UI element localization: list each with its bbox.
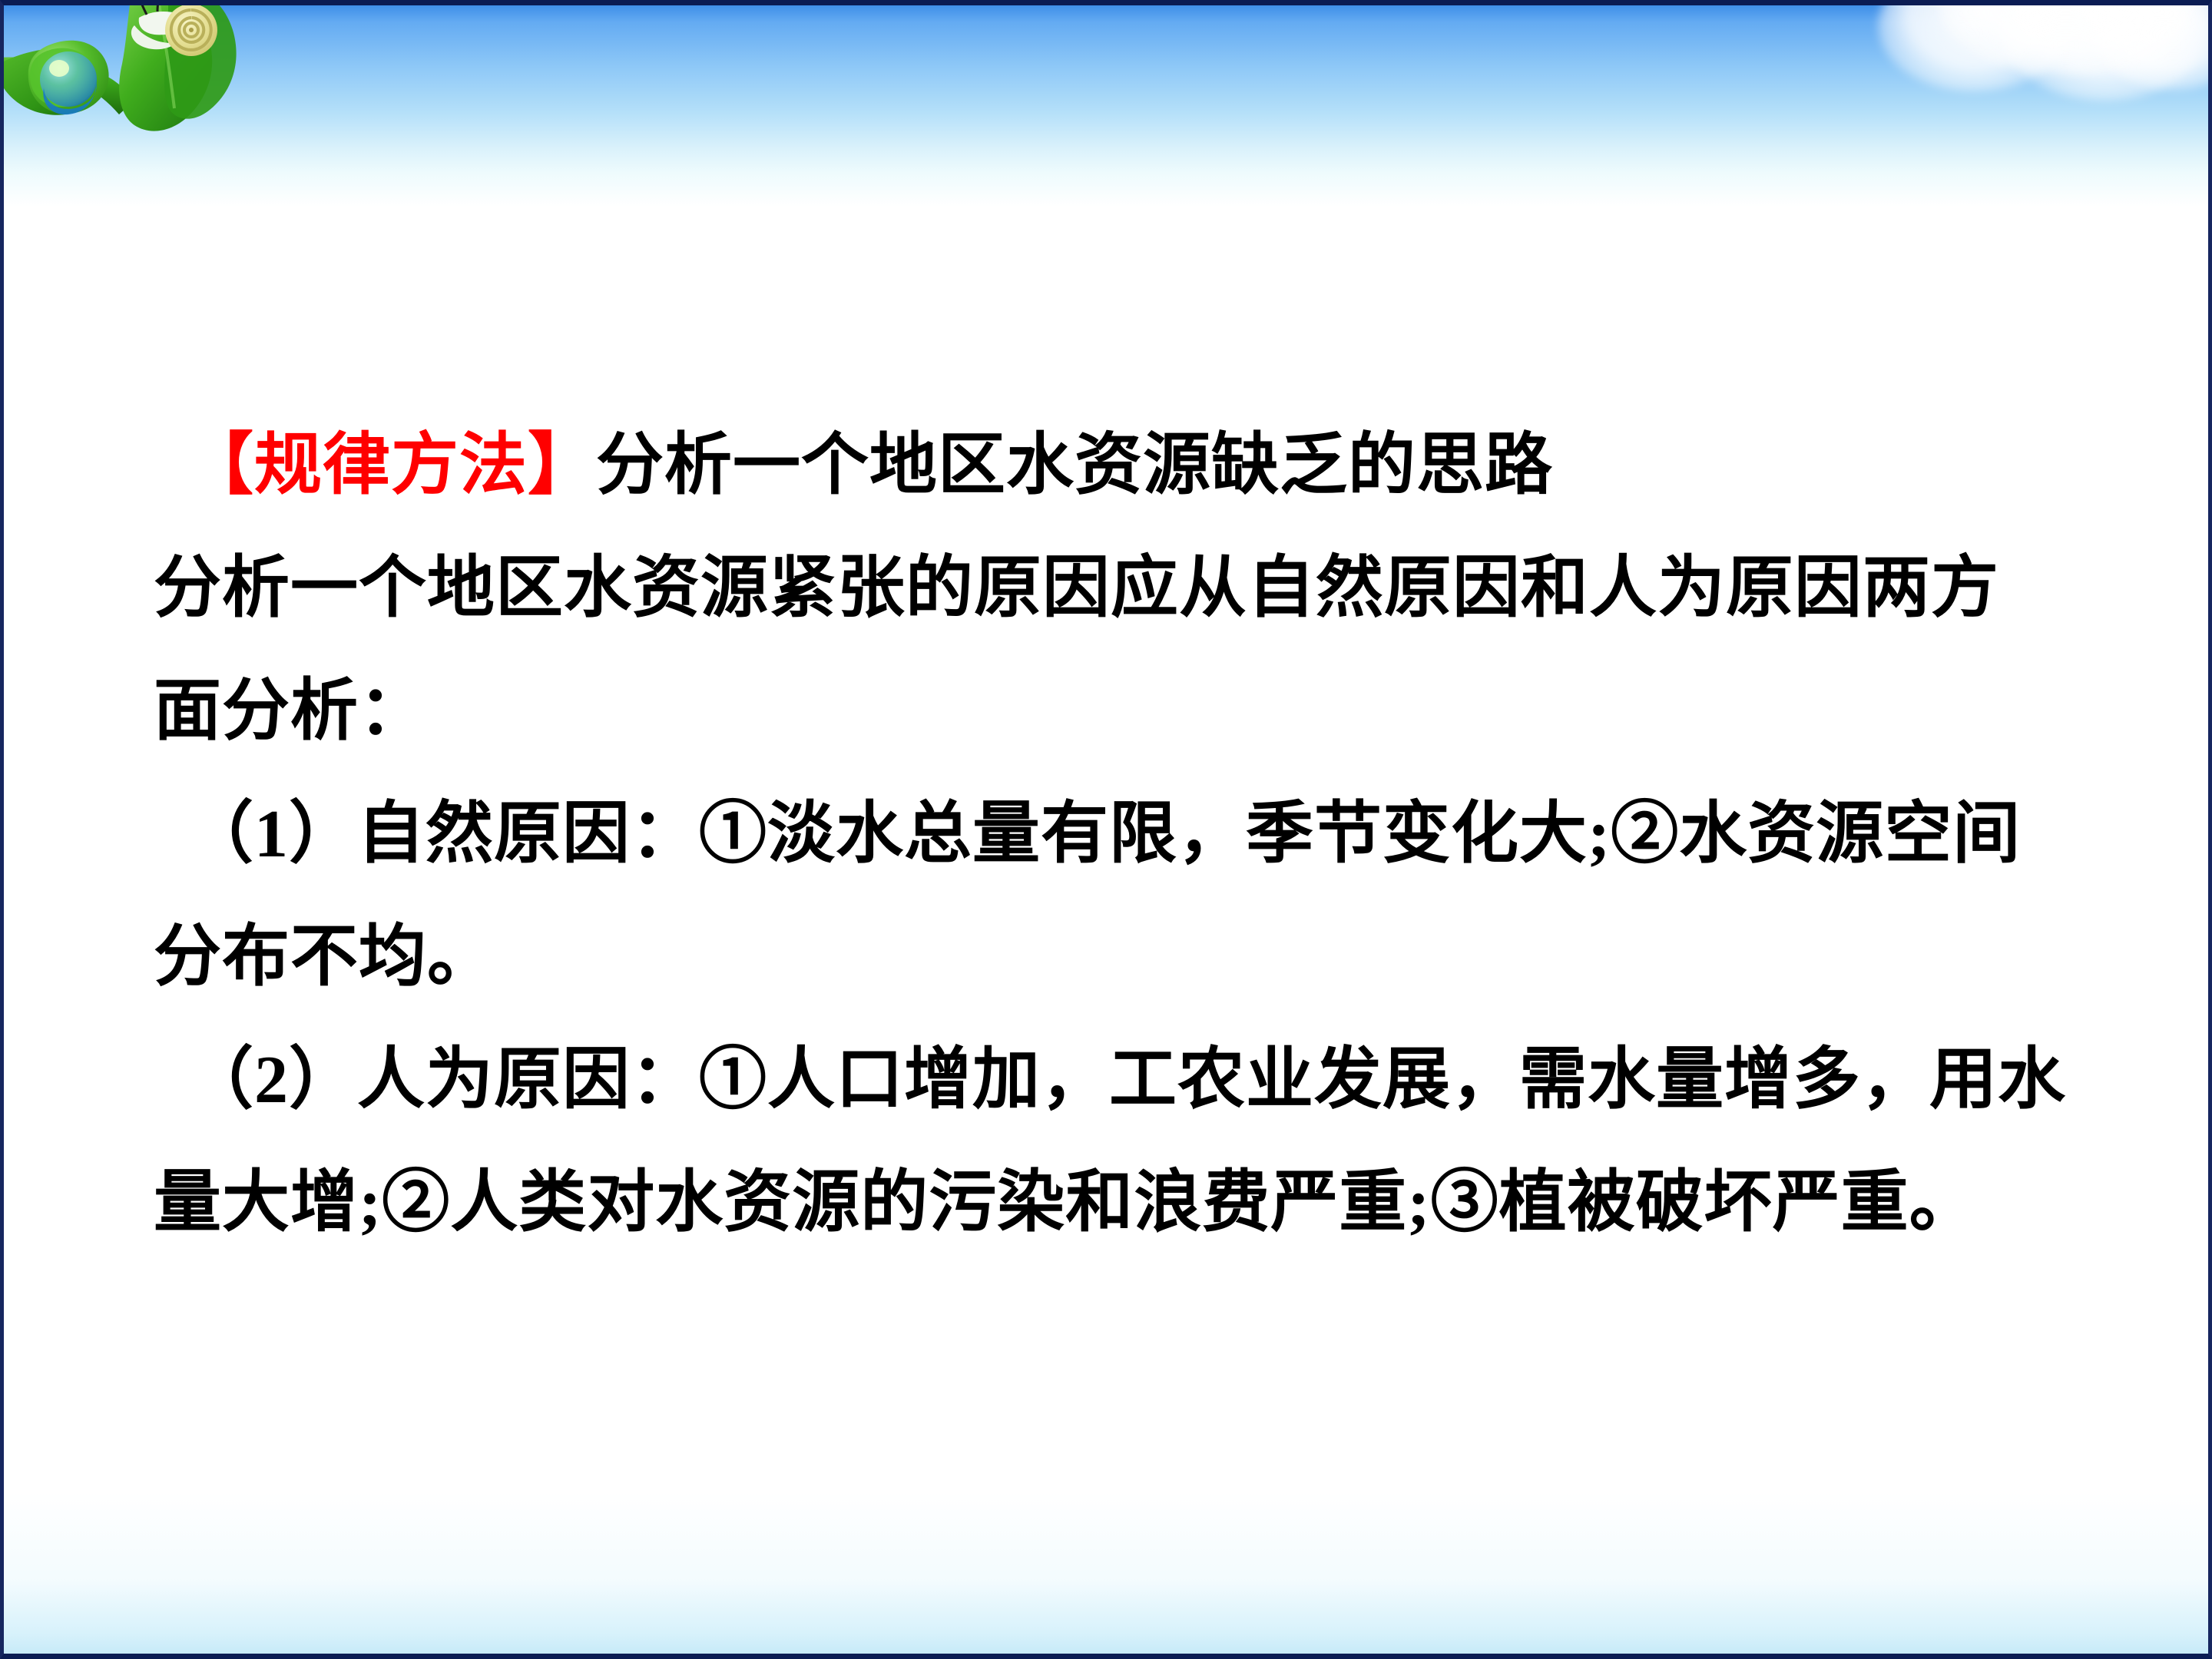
body-line: 分析一个地区水资源紧张的原因应从自然原因和人为原因两方 — [154, 528, 2101, 651]
cloud-icon — [1939, 0, 2193, 75]
bottom-gradient-wash — [4, 1492, 2208, 1654]
sky-gradient-banner — [4, 5, 2208, 213]
body-line: 分布不均。 — [154, 896, 2101, 1019]
cloud-icon — [1878, 0, 2070, 91]
body-line: 面分析： — [154, 651, 2101, 773]
page-title: 【规律方法】分析一个地区水资源缺乏的思路 — [154, 405, 2101, 528]
page-title-text: 分析一个地区水资源缺乏的思路 — [596, 429, 1553, 503]
leaf-droplet-snail-illustration — [4, 5, 326, 167]
body-line: 量大增;②人类对水资源的污染和浪费严重;③植被破坏严重。 — [154, 1142, 2101, 1265]
cloud-icon — [2093, 0, 2212, 90]
presentation-slide: 【规律方法】分析一个地区水资源缺乏的思路 分析一个地区水资源紧张的原因应从自然原… — [0, 0, 2212, 1659]
body-line: （2）人为原因：①人口增加，工农业发展，需水量增多，用水 — [154, 1019, 2101, 1142]
body-line: （1）自然原因：①淡水总量有限，季节变化大;②水资源空间 — [154, 773, 2101, 896]
method-tag: 【规律方法】 — [186, 429, 596, 503]
cloud-icon — [2001, 0, 2208, 101]
slide-body-text: 【规律方法】分析一个地区水资源缺乏的思路 分析一个地区水资源紧张的原因应从自然原… — [4, 405, 2212, 1265]
